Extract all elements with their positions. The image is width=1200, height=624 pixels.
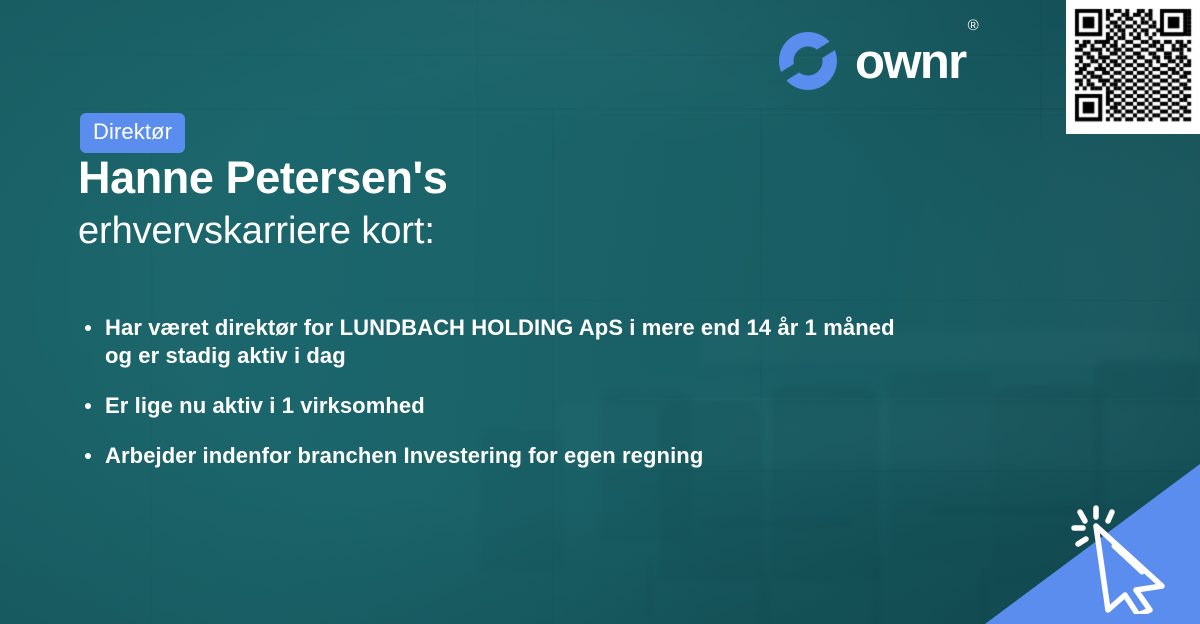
list-item: Har været direktør for LUNDBACH HOLDING … — [80, 314, 950, 370]
registered-trademark-icon: ® — [968, 17, 979, 34]
qr-code[interactable] — [1066, 0, 1200, 134]
list-item: Arbejder indenfor branchen Investering f… — [80, 442, 950, 470]
list-item: Er lige nu aktiv i 1 virksomhed — [80, 392, 950, 420]
page-subtitle: erhvervskarriere kort: — [78, 212, 435, 250]
ownr-wordmark: ownr — [855, 38, 966, 87]
career-card: Direktør Hanne Petersen's erhvervskarrie… — [0, 0, 1200, 624]
qr-code-icon — [1066, 0, 1200, 134]
list-item-text: Har været direktør for LUNDBACH HOLDING … — [105, 314, 910, 370]
list-item-text: Arbejder indenfor branchen Investering f… — [105, 442, 945, 470]
page-title: Hanne Petersen's — [78, 155, 447, 200]
corner-accent — [985, 464, 1200, 624]
ownr-swirl-logo-icon — [777, 30, 839, 92]
ownr-logo[interactable]: ownr ® — [777, 30, 977, 92]
corner-triangle — [985, 464, 1200, 624]
card-content: Direktør Hanne Petersen's erhvervskarrie… — [0, 0, 1200, 624]
fact-list: Har været direktør for LUNDBACH HOLDING … — [80, 314, 950, 492]
list-item-text: Er lige nu aktiv i 1 virksomhed — [105, 392, 945, 420]
role-badge: Direktør — [80, 113, 185, 153]
click-cursor-icon — [1070, 502, 1182, 614]
